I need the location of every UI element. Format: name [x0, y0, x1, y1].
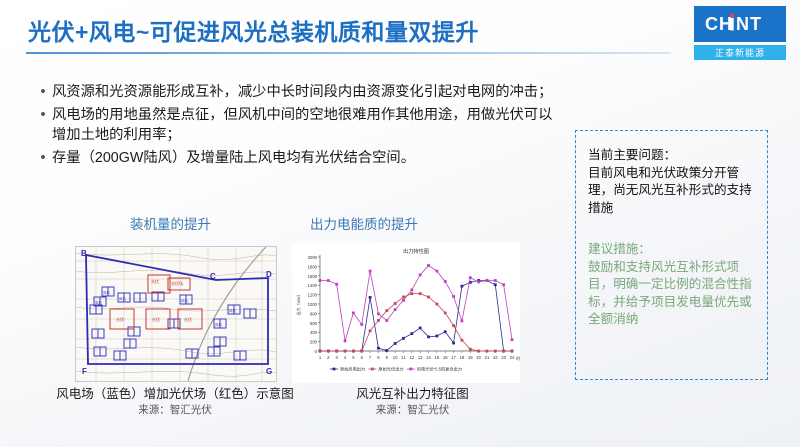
svg-text:原始光伏出力: 原始光伏出力 — [378, 366, 403, 373]
svg-text:20: 20 — [476, 355, 481, 360]
figure-caption-right: 风光互补出力特征图 来源：智汇光伏 — [330, 386, 495, 418]
svg-text:16: 16 — [443, 355, 448, 360]
figure-caption-left: 风电场（蓝色）增加光伏场（红色）示意图 来源：智汇光伏 — [55, 386, 295, 418]
callout-problem-text: 目前风电和光伏政策分开管理，尚无风光互补形式的支持措施 — [588, 166, 752, 215]
svg-text:F: F — [82, 367, 87, 376]
svg-text:23: 23 — [501, 355, 506, 360]
svg-text:600: 600 — [310, 321, 318, 326]
svg-text:C: C — [210, 272, 216, 281]
svg-text:光伏: 光伏 — [151, 278, 159, 284]
caption-title: 风光互补出力特征图 — [330, 386, 495, 403]
callout-problem-label: 当前主要问题： — [588, 148, 676, 162]
svg-text:风机: 风机 — [229, 308, 236, 313]
svg-text:1400: 1400 — [308, 283, 318, 288]
bullet-dot-icon: • — [34, 105, 52, 146]
svg-text:19: 19 — [468, 355, 473, 360]
svg-text:时间: 时间 — [516, 355, 520, 361]
wind-pv-site-map: B C D F G — [75, 246, 277, 382]
svg-text:24: 24 — [510, 355, 515, 360]
bullet-text: 风电场的用地虽然是点征，但风机中间的空地很难用作其他用途，用做光伏可以增加土地的… — [52, 105, 554, 146]
page-title: 光伏+风电~可促进风光总装机质和量双提升 — [28, 13, 479, 47]
svg-text:光伏: 光伏 — [152, 316, 160, 322]
callout-box: 当前主要问题： 目前风电和光伏政策分开管理，尚无风光互补形式的支持措施 建议措施… — [575, 130, 768, 380]
svg-text:风机: 风机 — [181, 298, 188, 303]
list-item: • 存量（200GW陆风）及增量陆上风电均有光伏结合空间。 — [34, 148, 554, 169]
svg-text:光伏场: 光伏场 — [171, 280, 183, 286]
svg-text:10: 10 — [393, 355, 398, 360]
logo-mark: CH NT — [694, 6, 786, 42]
title-underline — [26, 52, 671, 54]
bullet-text: 风资源和光资源能形成互补，减少中长时间段内由资源变化引起对电网的冲击； — [52, 82, 552, 103]
svg-text:2000: 2000 — [308, 255, 318, 260]
svg-text:800: 800 — [310, 311, 318, 316]
bullet-dot-icon: • — [34, 148, 52, 169]
page-header: 光伏+风电~可促进风光总装机质和量双提升 CH NT 正泰新能源 — [0, 0, 800, 62]
section-heading-quality: 出力电能质的提升 — [310, 213, 418, 233]
callout-problem: 当前主要问题： 目前风电和光伏政策分开管理，尚无风光互补形式的支持措施 — [588, 147, 757, 217]
svg-text:1000: 1000 — [308, 302, 318, 307]
bullet-dot-icon: • — [34, 82, 52, 103]
svg-text:17: 17 — [451, 355, 456, 360]
svg-text:11: 11 — [401, 355, 406, 360]
svg-text:风机: 风机 — [95, 300, 102, 305]
brand-logo: CH NT 正泰新能源 — [694, 6, 786, 60]
svg-text:风机: 风机 — [119, 296, 126, 301]
callout-advice-label: 建议措施： — [588, 242, 651, 256]
svg-text:光伏: 光伏 — [116, 316, 124, 322]
svg-text:200: 200 — [310, 340, 318, 345]
svg-text:15: 15 — [435, 355, 440, 360]
svg-text:CH: CH — [705, 14, 733, 34]
svg-text:13: 13 — [418, 355, 423, 360]
svg-text:1800: 1800 — [308, 264, 318, 269]
svg-text:风机: 风机 — [215, 322, 222, 327]
svg-text:18: 18 — [460, 355, 465, 360]
svg-text:1600: 1600 — [308, 274, 318, 279]
list-item: • 风电场的用地虽然是点征，但风机中间的空地很难用作其他用途，用做光伏可以增加土… — [34, 105, 554, 146]
svg-text:出力特性图: 出力特性图 — [403, 247, 429, 255]
svg-text:21: 21 — [485, 355, 490, 360]
section-heading-capacity: 装机量的提升 — [130, 213, 211, 233]
bullet-list: • 风资源和光资源能形成互补，减少中长时间段内由资源变化引起对电网的冲击； • … — [34, 82, 554, 170]
logo-subtitle: 正泰新能源 — [694, 45, 786, 60]
complementary-output-chart: 0200400600800100012001400160018002000出力（… — [292, 243, 520, 383]
callout-advice-text: 鼓励和支持风光互补形式项目，明确一定比例的混合性指标，并给予项目发电量优先或全额… — [588, 260, 752, 327]
svg-text:风机: 风机 — [103, 290, 110, 295]
svg-text:14: 14 — [426, 355, 431, 360]
svg-text:G: G — [266, 367, 272, 376]
list-item: • 风资源和光资源能形成互补，减少中长时间段内由资源变化引起对电网的冲击； — [34, 82, 554, 103]
callout-advice: 建议措施： 鼓励和支持风光互补形式项目，明确一定比例的混合性指标，并给予项目发电… — [588, 241, 757, 329]
bullet-text: 存量（200GW陆风）及增量陆上风电均有光伏结合空间。 — [52, 148, 415, 169]
svg-text:原始风电出力: 原始风电出力 — [340, 366, 365, 373]
caption-title: 风电场（蓝色）增加光伏场（红色）示意图 — [55, 386, 295, 403]
svg-text:22: 22 — [493, 355, 498, 360]
svg-text:1200: 1200 — [308, 293, 318, 298]
svg-text:B: B — [81, 249, 87, 258]
svg-text:光伏: 光伏 — [184, 316, 192, 322]
chnt-wordmark-icon: CH NT — [705, 13, 775, 35]
chart-svg: 0200400600800100012001400160018002000出力（… — [292, 243, 520, 383]
caption-source: 来源：智汇光伏 — [330, 403, 495, 418]
caption-source: 来源：智汇光伏 — [55, 403, 295, 418]
svg-text:D: D — [266, 270, 272, 279]
svg-text:出力（MW）: 出力（MW） — [295, 292, 301, 315]
svg-text:NT: NT — [736, 14, 762, 34]
map-svg: B C D F G — [76, 247, 276, 381]
svg-text:12: 12 — [409, 355, 414, 360]
svg-text:风电光伏*0.5的复合出力: 风电光伏*0.5的复合出力 — [417, 366, 462, 373]
svg-text:400: 400 — [310, 330, 318, 335]
